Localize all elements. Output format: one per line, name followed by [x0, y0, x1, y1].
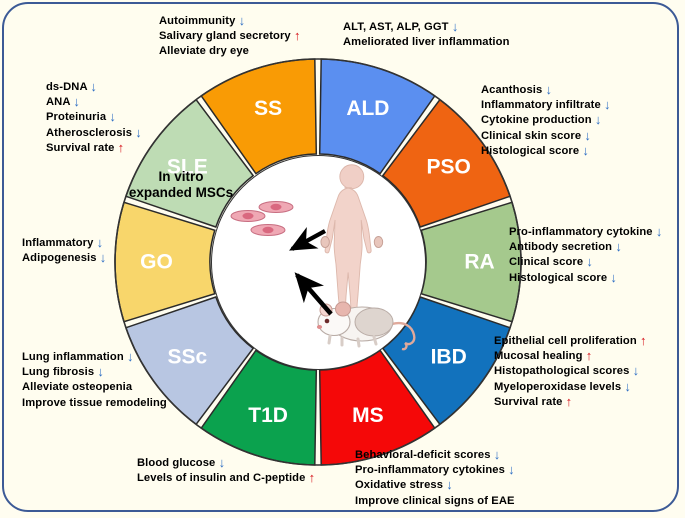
arrow-down-icon: ↓ [109, 109, 116, 124]
annotation-line: Autoimmunity ↓ [159, 14, 301, 29]
wheel-label-ms: MS [352, 404, 384, 427]
annotation-line: Oxidative stress ↓ [355, 478, 515, 493]
center-label-line2: expanded [129, 185, 192, 200]
annotation-text: Myeloperoxidase levels [494, 381, 624, 393]
annotation-line: Histological score ↓ [481, 144, 611, 159]
annotation-line: Adipogenesis ↓ [22, 251, 106, 266]
annotation-line: ds-DNA ↓ [46, 80, 142, 95]
wheel-label-go: GO [140, 251, 173, 274]
annotation-line: Clinical score ↓ [509, 255, 662, 270]
annotation-text: Histopathological scores [494, 365, 633, 377]
arrow-down-icon: ↓ [494, 447, 501, 462]
annotation-text: Autoimmunity [159, 15, 239, 27]
annotation-text: Blood glucose [137, 457, 219, 469]
arrow-down-icon: ↓ [135, 125, 142, 140]
annotation-ssc: Lung inflammation ↓Lung fibrosis ↓Allevi… [22, 350, 167, 411]
arrow-down-icon: ↓ [127, 349, 134, 364]
annotation-text: Lung fibrosis [22, 366, 97, 378]
annotation-line: Improve tissue remodeling [22, 396, 167, 411]
annotation-go: Inflammatory ↓Adipogenesis ↓ [22, 236, 106, 266]
arrow-up-icon: ↑ [294, 28, 301, 43]
wheel-label-t1d: T1D [248, 404, 288, 427]
figure-frame: ALDPSORAIBDMST1DSScGOSLESS [2, 2, 679, 512]
annotation-line: Atherosclerosis ↓ [46, 126, 142, 141]
wheel-label-ssc: SSc [167, 345, 207, 368]
annotation-line: Histological score ↓ [509, 271, 662, 286]
arrow-up-icon: ↑ [566, 394, 573, 409]
annotation-text: Epithelial cell proliferation [494, 335, 640, 347]
annotation-line: Pro-inflammatory cytokines ↓ [355, 463, 515, 478]
arrow-down-icon: ↓ [97, 235, 104, 250]
annotation-ss: Autoimmunity ↓Salivary gland secretory ↑… [159, 14, 301, 60]
annotation-text: Histological score [509, 272, 610, 284]
arrow-up-icon: ↑ [640, 333, 647, 348]
arrow-up-icon: ↑ [309, 470, 316, 485]
annotation-text: Proteinuria [46, 111, 109, 123]
annotation-line: Inflammatory ↓ [22, 236, 106, 251]
annotation-line: Myeloperoxidase levels ↓ [494, 380, 647, 395]
annotation-text: Clinical score [509, 256, 586, 268]
arrow-down-icon: ↓ [100, 250, 107, 265]
annotation-line: Cytokine production ↓ [481, 113, 611, 128]
annotation-text: Lung inflammation [22, 351, 127, 363]
annotation-text: ds-DNA [46, 81, 90, 93]
arrow-up-icon: ↑ [118, 140, 125, 155]
annotation-text: Clinical skin score [481, 130, 584, 142]
arrow-down-icon: ↓ [584, 128, 591, 143]
annotation-line: Histopathological scores ↓ [494, 364, 647, 379]
arrow-down-icon: ↓ [624, 379, 631, 394]
annotation-text: Salivary gland secretory [159, 30, 294, 42]
annotation-ibd: Epithelial cell proliferation ↑Mucosal h… [494, 334, 647, 410]
wheel-label-ibd: IBD [431, 345, 467, 368]
wheel-label-ald: ALD [346, 97, 389, 120]
annotation-text: Survival rate [46, 142, 118, 154]
annotation-line: Alleviate dry eye [159, 44, 301, 59]
annotation-text: Oxidative stress [355, 479, 446, 491]
annotation-text: Ameliorated liver inflammation [343, 36, 510, 48]
human-figure-icon [321, 165, 383, 324]
annotation-sle: ds-DNA ↓ANA ↓Proteinuria ↓Atherosclerosi… [46, 80, 142, 156]
mouse-icon [317, 302, 414, 349]
arrow-down-icon: ↓ [582, 143, 589, 158]
annotation-line: Mucosal healing ↑ [494, 349, 647, 364]
annotation-pso: Acanthosis ↓Inflammatory infiltrate ↓Cyt… [481, 83, 611, 159]
arrow-down-icon: ↓ [633, 363, 640, 378]
annotation-line: Epithelial cell proliferation ↑ [494, 334, 647, 349]
annotation-text: Survival rate [494, 396, 566, 408]
arrow-down-icon: ↓ [604, 97, 611, 112]
annotation-text: Improve clinical signs of EAE [355, 495, 515, 507]
wheel-label-ss: SS [254, 97, 282, 120]
annotation-text: Pro-inflammatory cytokine [509, 226, 656, 238]
annotation-line: Lung inflammation ↓ [22, 350, 167, 365]
annotation-line: ALT, AST, ALP, GGT ↓ [343, 20, 510, 35]
annotation-line: Survival rate ↑ [46, 141, 142, 156]
arrow-up-icon: ↑ [586, 348, 593, 363]
disease-wheel: ALDPSORAIBDMST1DSScGOSLESS [113, 57, 523, 467]
annotation-text: Pro-inflammatory cytokines [355, 464, 508, 476]
arrow-down-icon: ↓ [73, 94, 80, 109]
arrow-down-icon: ↓ [595, 112, 602, 127]
annotation-line: Ameliorated liver inflammation [343, 35, 510, 50]
wheel-label-ra: RA [464, 251, 494, 274]
annotation-ra: Pro-inflammatory cytokine ↓Antibody secr… [509, 225, 662, 286]
msc-cells-icon [231, 202, 293, 236]
annotation-text: Antibody secretion [509, 241, 615, 253]
annotation-text: Adipogenesis [22, 252, 100, 264]
arrow-down-icon: ↓ [508, 462, 515, 477]
annotation-text: Atherosclerosis [46, 127, 135, 139]
arrow-down-icon: ↓ [219, 455, 226, 470]
center-label-line1: In vitro [158, 169, 203, 184]
annotation-text: Acanthosis [481, 84, 546, 96]
arrow-down-icon: ↓ [586, 254, 593, 269]
annotation-line: Improve clinical signs of EAE [355, 494, 515, 509]
annotation-line: Levels of insulin and C-peptide ↑ [137, 471, 315, 486]
annotation-text: ALT, AST, ALP, GGT [343, 21, 452, 33]
annotation-line: Acanthosis ↓ [481, 83, 611, 98]
annotation-text: Alleviate dry eye [159, 45, 249, 57]
arrow-down-icon: ↓ [615, 239, 622, 254]
annotation-line: Clinical skin score ↓ [481, 129, 611, 144]
arrow-down-icon: ↓ [239, 13, 246, 28]
annotation-line: Proteinuria ↓ [46, 110, 142, 125]
arrow-down-icon: ↓ [656, 224, 663, 239]
annotation-ald: ALT, AST, ALP, GGT ↓Ameliorated liver in… [343, 20, 510, 50]
annotation-line: Lung fibrosis ↓ [22, 365, 167, 380]
annotation-text: Histological score [481, 145, 582, 157]
center-label-line3: MSCs [196, 185, 234, 200]
annotation-text: Inflammatory [22, 237, 97, 249]
arrow-down-icon: ↓ [452, 19, 459, 34]
annotation-text: Improve tissue remodeling [22, 397, 167, 409]
arrow-down-icon: ↓ [546, 82, 553, 97]
annotation-ms: Behavioral-deficit scores ↓Pro-inflammat… [355, 448, 515, 509]
annotation-line: Behavioral-deficit scores ↓ [355, 448, 515, 463]
annotation-line: ANA ↓ [46, 95, 142, 110]
arrow-down-icon: ↓ [610, 270, 617, 285]
wheel-label-pso: PSO [426, 156, 470, 179]
center-label: In vitro expanded MSCs [127, 169, 235, 201]
annotation-line: Blood glucose ↓ [137, 456, 315, 471]
arrow-down-icon: ↓ [446, 477, 453, 492]
arrow-down-icon: ↓ [97, 364, 104, 379]
annotation-text: Inflammatory infiltrate [481, 99, 604, 111]
center-illustration [210, 154, 426, 370]
annotation-line: Inflammatory infiltrate ↓ [481, 98, 611, 113]
annotation-text: Mucosal healing [494, 350, 586, 362]
annotation-text: Cytokine production [481, 114, 595, 126]
annotation-line: Salivary gland secretory ↑ [159, 29, 301, 44]
annotation-text: Alleviate osteopenia [22, 381, 132, 393]
annotation-line: Pro-inflammatory cytokine ↓ [509, 225, 662, 240]
annotation-line: Alleviate osteopenia [22, 380, 167, 395]
annotation-text: Behavioral-deficit scores [355, 449, 494, 461]
annotation-text: ANA [46, 96, 73, 108]
annotation-line: Survival rate ↑ [494, 395, 647, 410]
arrow-down-icon: ↓ [90, 79, 97, 94]
annotation-t1d: Blood glucose ↓Levels of insulin and C-p… [137, 456, 315, 486]
annotation-text: Levels of insulin and C-peptide [137, 472, 309, 484]
